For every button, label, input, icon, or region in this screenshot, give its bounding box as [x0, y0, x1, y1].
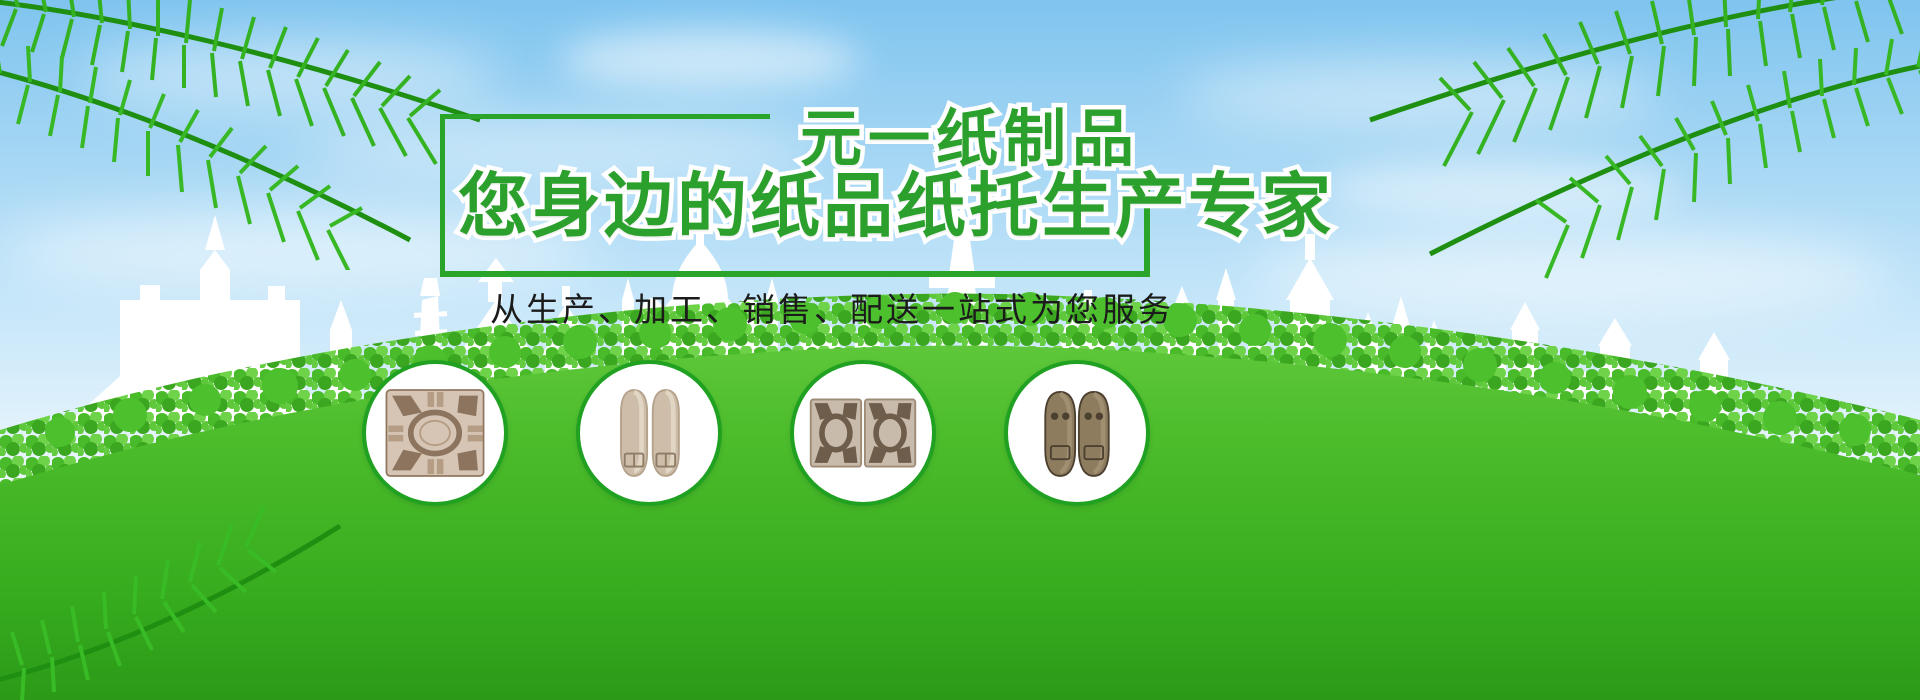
paired-pulp-trays-icon: [807, 384, 919, 482]
product-circle-row: [0, 0, 1920, 700]
pulp-shoe-inserts-icon: [593, 384, 705, 482]
product-circle-dark-pulp-shoe-forms[interactable]: [1004, 360, 1150, 506]
product-circle-square-pulp-tray[interactable]: [362, 360, 508, 506]
promotional-banner: 元一纸制品 您身边的纸品纸托生产专家 从生产、加工、销售、配送一站式为您服务: [0, 0, 1920, 700]
square-pulp-tray-icon: [379, 384, 491, 482]
product-circle-pulp-shoe-inserts[interactable]: [576, 360, 722, 506]
dark-pulp-shoe-forms-icon: [1021, 384, 1133, 482]
product-circle-paired-pulp-trays[interactable]: [790, 360, 936, 506]
